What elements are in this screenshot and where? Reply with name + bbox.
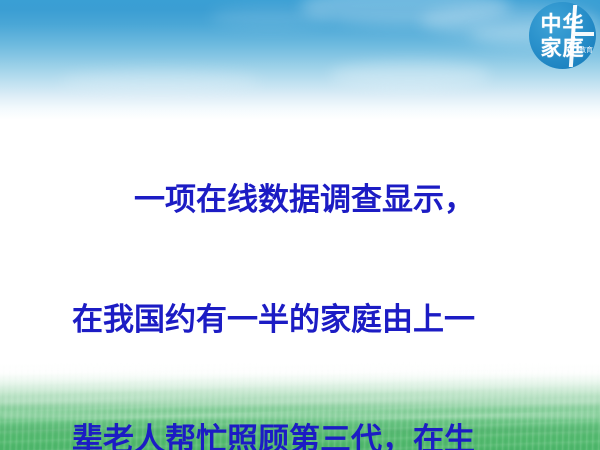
text-line: 在我国约有一半的家庭由上一 [72, 300, 528, 340]
brand-logo: 中华 家庭 教育 [529, 2, 596, 69]
text-line: 辈老人帮忙照顾第三代，在生 [72, 420, 528, 450]
cloud-wisp [330, 62, 490, 88]
slide-body-text: 一项在线数据调查显示， 在我国约有一半的家庭由上一 辈老人帮忙照顾第三代，在生 … [72, 100, 528, 450]
presentation-slide: 中华 家庭 教育 一项在线数据调查显示， 在我国约有一半的家庭由上一 辈老人帮忙… [0, 0, 600, 450]
cloud-wisp [210, 6, 330, 28]
logo-subtitle: 教育 [579, 47, 593, 54]
text-line: 一项在线数据调查显示， [72, 180, 528, 220]
cloud-wisp [60, 70, 260, 92]
logo-brush-stroke-icon [575, 32, 594, 36]
cloud-wisp [300, 0, 510, 26]
logo-characters: 中华 家庭 教育 [529, 2, 596, 69]
